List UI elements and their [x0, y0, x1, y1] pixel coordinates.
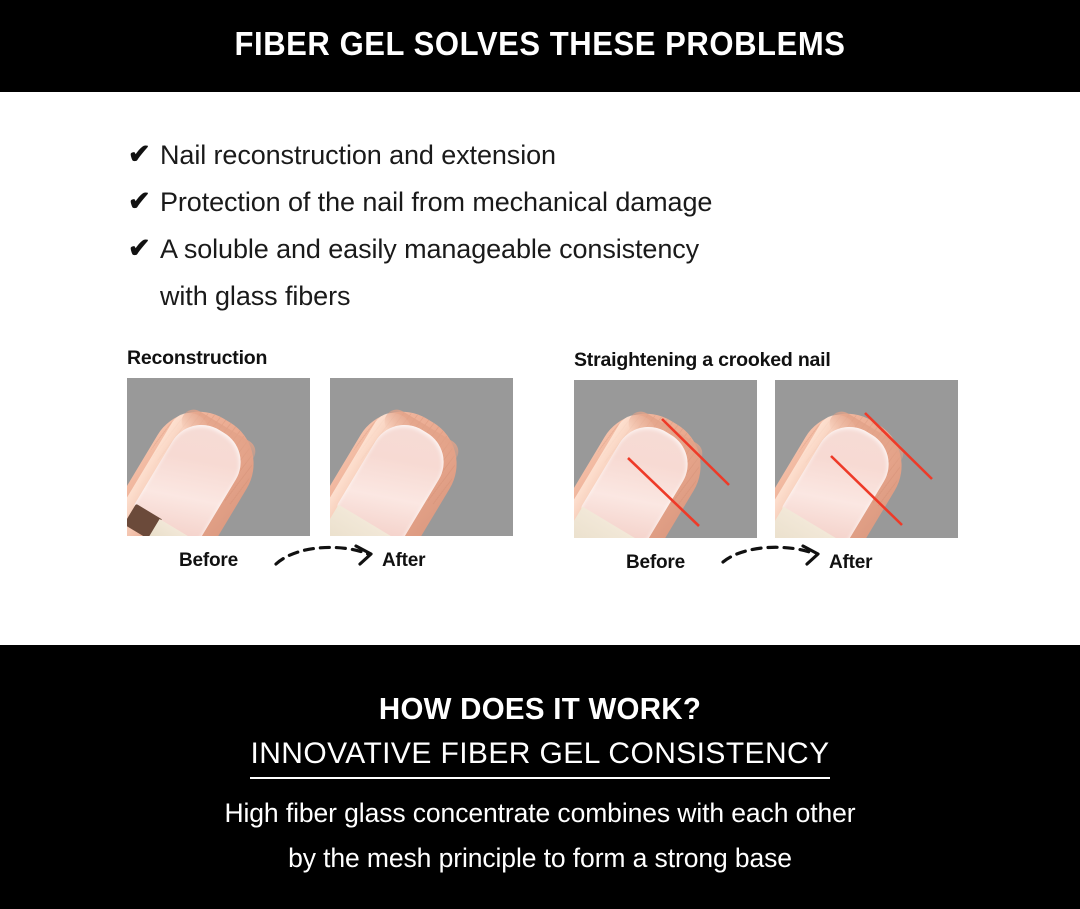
before-label: Before: [626, 552, 685, 574]
photo-pair: [127, 378, 517, 536]
comparison-reconstruction: Reconstruction: [127, 347, 517, 582]
top-banner: FIBER GEL SOLVES THESE PROBLEMS: [0, 0, 1080, 92]
footer-body-line-1: High fiber glass concentrate combines wi…: [0, 791, 1080, 836]
checkmark-icon: ✔: [128, 181, 160, 221]
before-after-labels: Before After: [574, 544, 964, 584]
page-title: FIBER GEL SOLVES THESE PROBLEMS: [32, 25, 1047, 63]
after-label: After: [829, 552, 872, 574]
after-label: After: [382, 550, 425, 572]
benefit-text-continuation: with glass fibers: [160, 275, 1008, 317]
benefits-list: ✔ Nail reconstruction and extension ✔ Pr…: [128, 134, 1008, 317]
main-content: ✔ Nail reconstruction and extension ✔ Pr…: [0, 92, 1080, 645]
transition-arrow-icon: [272, 542, 382, 578]
checkmark-icon: ✔: [128, 134, 160, 174]
checkmark-icon: ✔: [128, 228, 160, 268]
comparison-title: Straightening a crooked nail: [574, 349, 964, 372]
list-item: ✔ Nail reconstruction and extension: [128, 134, 1008, 179]
before-photo-straightening: [574, 380, 757, 538]
footer-heading: HOW DOES IT WORK?: [27, 691, 1053, 727]
photo-pair: [574, 380, 964, 538]
after-photo-reconstruction: [330, 378, 513, 536]
before-photo-reconstruction: [127, 378, 310, 536]
benefit-text: A soluble and easily manageable consiste…: [160, 228, 699, 270]
finger-illustration: [574, 396, 757, 538]
comparison-title: Reconstruction: [127, 347, 517, 370]
before-label: Before: [179, 550, 238, 572]
after-photo-straightening: [775, 380, 958, 538]
finger-illustration: [127, 394, 310, 536]
footer-body: High fiber glass concentrate combines wi…: [0, 791, 1080, 881]
list-item: ✔ A soluble and easily manageable consis…: [128, 228, 1008, 273]
footer-body-line-2: by the mesh principle to form a strong b…: [0, 836, 1080, 881]
list-item: ✔ Protection of the nail from mechanical…: [128, 181, 1008, 226]
footer-subheading-wrap: INNOVATIVE FIBER GEL CONSISTENCY: [0, 737, 1080, 779]
benefit-text: Nail reconstruction and extension: [160, 134, 556, 176]
footer-section: HOW DOES IT WORK? INNOVATIVE FIBER GEL C…: [0, 645, 1080, 909]
benefit-text: Protection of the nail from mechanical d…: [160, 181, 712, 223]
finger-illustration: [775, 396, 958, 538]
transition-arrow-icon: [719, 544, 829, 580]
footer-subheading: INNOVATIVE FIBER GEL CONSISTENCY: [250, 737, 829, 779]
before-after-labels: Before After: [127, 542, 517, 582]
finger-illustration: [330, 394, 513, 536]
comparison-straightening: Straightening a crooked nail: [574, 349, 964, 584]
